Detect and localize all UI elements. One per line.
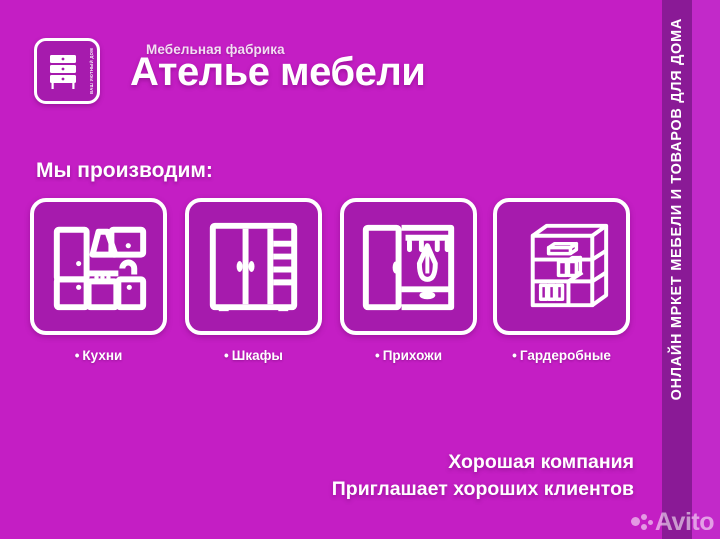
right-dark-band [662, 0, 692, 539]
dresser-icon [48, 53, 78, 91]
category-card-closets[interactable]: •Гардеробные [493, 198, 630, 363]
bullet-icon: • [512, 348, 517, 363]
brand-title: Ателье мебели [130, 50, 425, 95]
category-label-kitchens: •Кухни [30, 348, 167, 363]
logo-vertical-label: ВАШ УЮТНЫЙ ДОМ [89, 48, 94, 94]
bullet-icon: • [375, 348, 380, 363]
hallway-icon [344, 202, 473, 331]
category-label-wardrobes: •Шкафы [185, 348, 322, 363]
wardrobe-card-frame [185, 198, 322, 335]
shelving-card-frame [493, 198, 630, 335]
slogan-block: Хорошая компания Приглашает хороших клие… [332, 449, 634, 503]
category-label-text: Гардеробные [520, 348, 611, 363]
avito-dots-logo [631, 512, 653, 534]
kitchen-card-frame [30, 198, 167, 335]
right-light-band [692, 0, 720, 539]
category-card-wardrobes[interactable]: •Шкафы [185, 198, 322, 363]
slogan-line-2: Приглашает хороших клиентов [332, 476, 634, 503]
advertisement-banner: ОНЛАЙН МРКЕТ МЕБЕЛИ И ТОВАРОВ ДЛЯ ДОМА В… [0, 0, 720, 539]
company-logo: ВАШ УЮТНЫЙ ДОМ [34, 38, 100, 104]
wardrobe-icon [189, 202, 318, 331]
category-label-text: Прихожи [383, 348, 442, 363]
logo-vertical-text: ВАШ УЮТНЫЙ ДОМ [89, 45, 94, 97]
slogan-line-1: Хорошая компания [332, 449, 634, 476]
category-label-hallways: •Прихожи [340, 348, 477, 363]
bullet-icon: • [224, 348, 229, 363]
bullet-icon: • [75, 348, 80, 363]
shelving-icon [497, 202, 626, 331]
category-label-closets: •Гардеробные [493, 348, 630, 363]
hallway-card-frame [340, 198, 477, 335]
section-heading: Мы производим: [36, 159, 213, 183]
category-card-hallways[interactable]: •Прихожи [340, 198, 477, 363]
category-label-text: Кухни [82, 348, 122, 363]
category-card-list: •Кухни •Шкаф [30, 198, 630, 373]
category-card-kitchens[interactable]: •Кухни [30, 198, 167, 363]
kitchen-icon [34, 202, 163, 331]
category-label-text: Шкафы [232, 348, 283, 363]
